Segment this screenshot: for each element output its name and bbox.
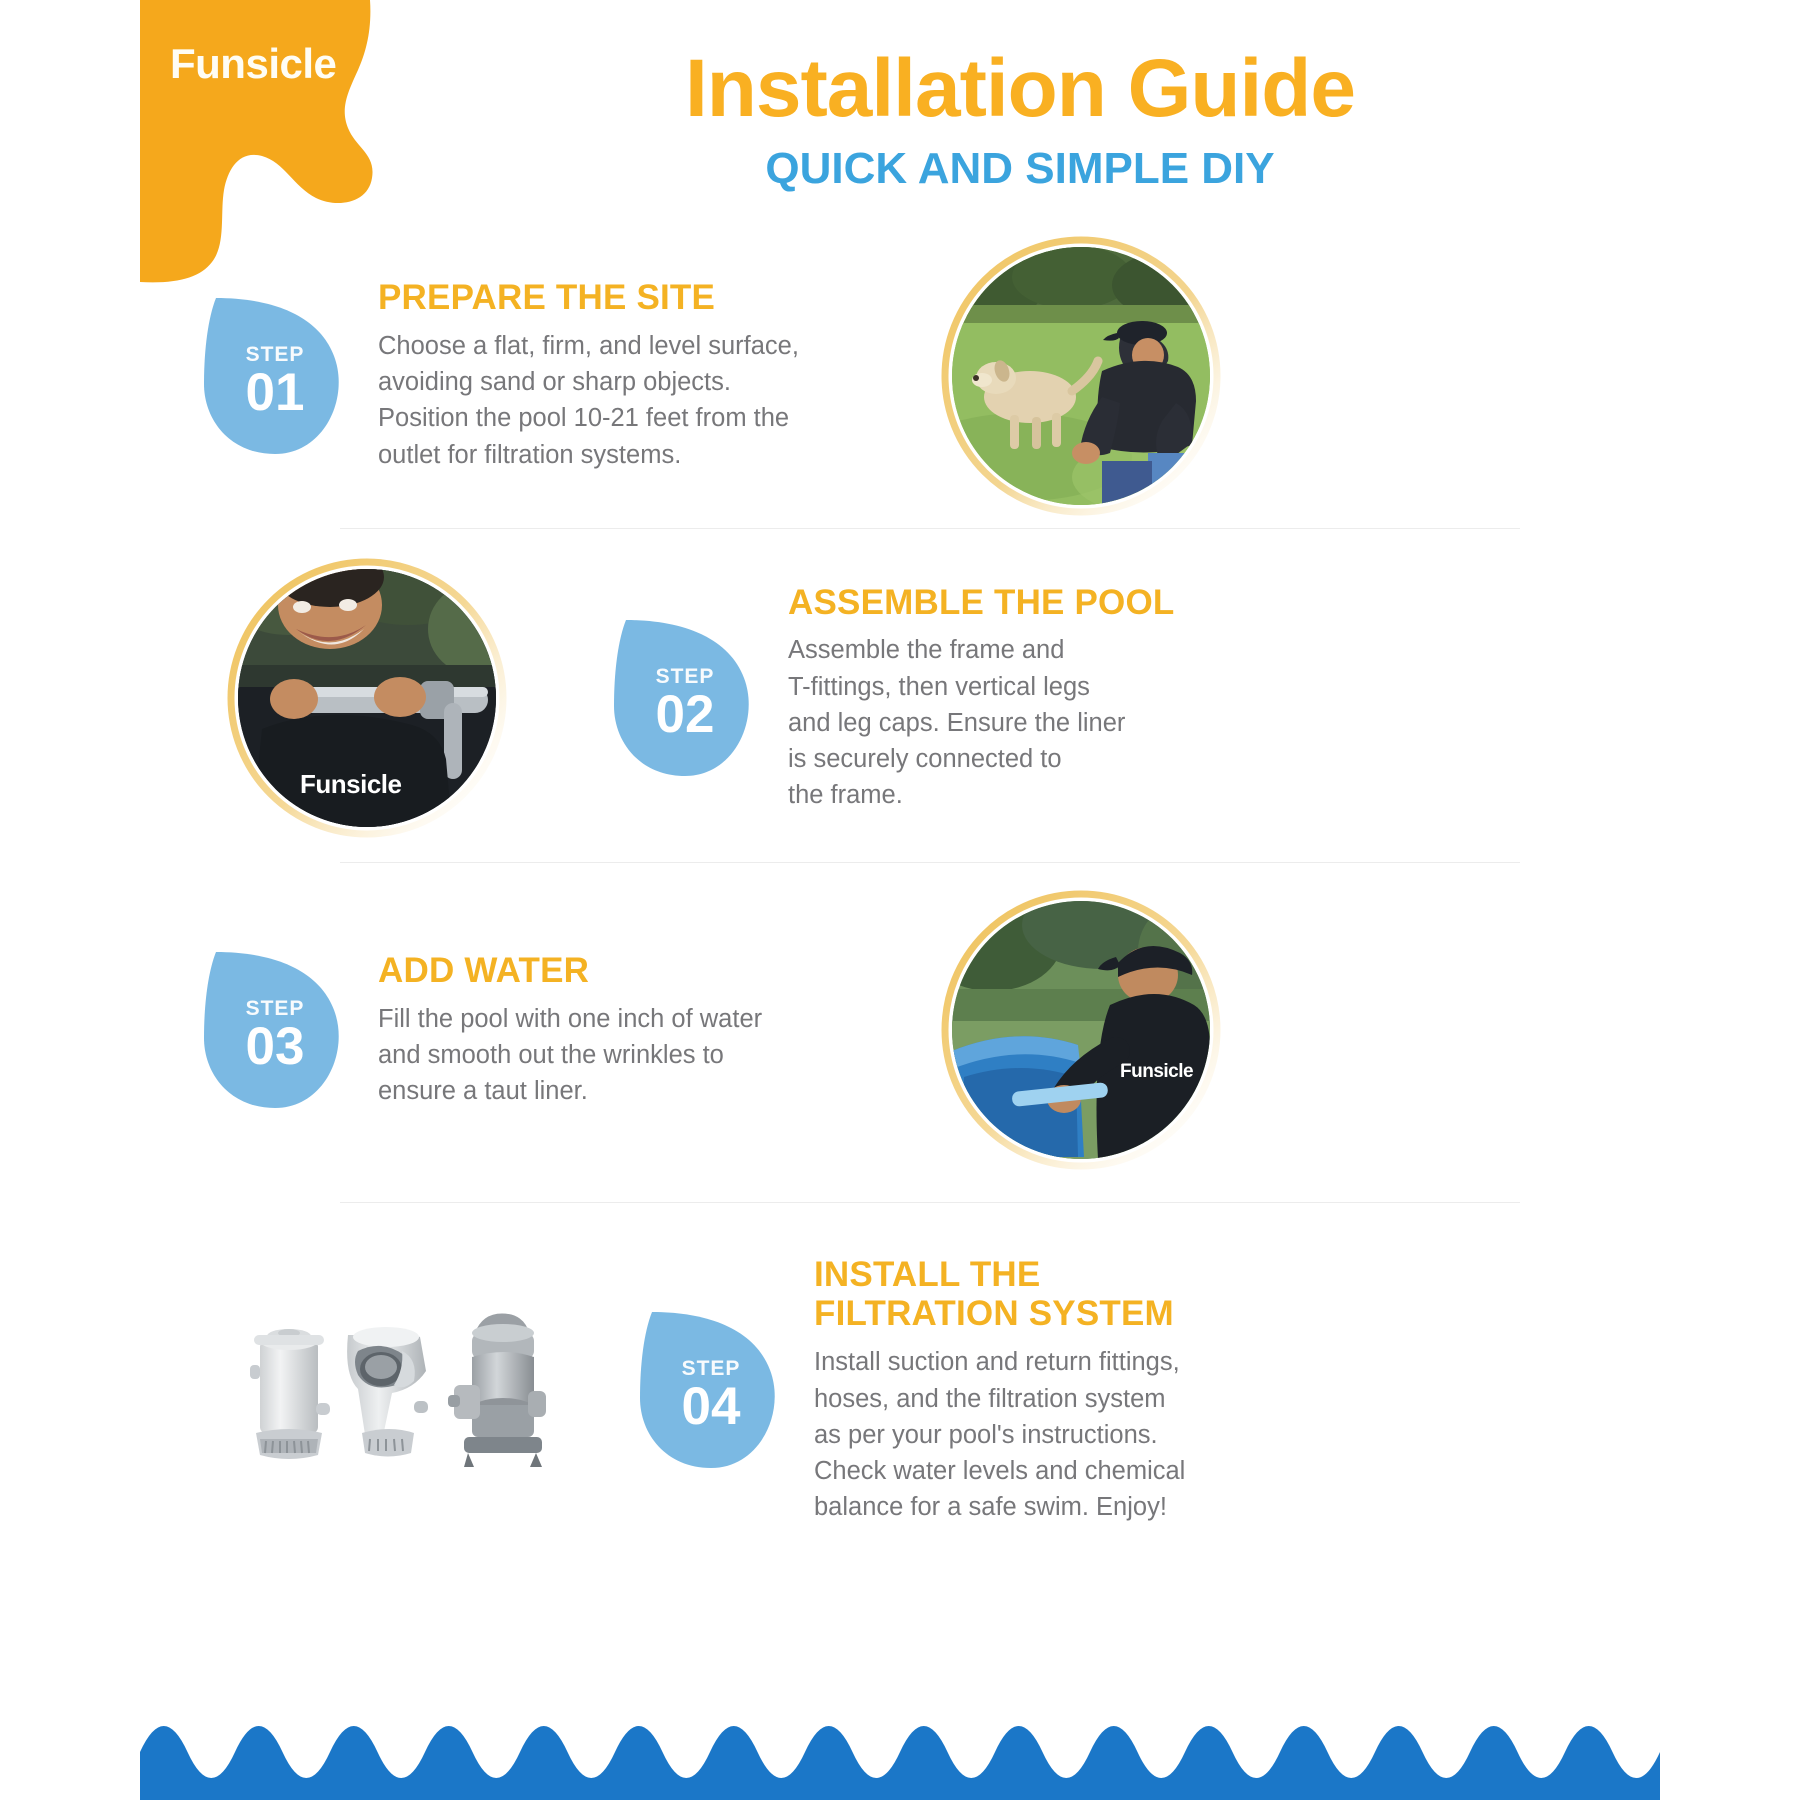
step-photo-03: Funsicle: [938, 887, 1224, 1173]
step-row-02: Funsicle STEP 02 ASSEMBLE THE POOL Assem…: [200, 548, 1600, 848]
step-text-03: ADD WATER Fill the pool with one inch of…: [350, 951, 898, 1110]
header: Installation Guide QUICK AND SIMPLE DIY: [440, 48, 1600, 194]
step-photo-01: [938, 233, 1224, 519]
step-text-04: INSTALL THE FILTRATION SYSTEM Install su…: [786, 1255, 1254, 1526]
step-heading-04: INSTALL THE FILTRATION SYSTEM: [814, 1255, 1254, 1335]
section-divider: [340, 1202, 1520, 1203]
step-badge-04: STEP 04: [636, 1306, 786, 1474]
page-subtitle: QUICK AND SIMPLE DIY: [440, 144, 1600, 194]
installation-guide-page: Funsicle Installation Guide QUICK AND SI…: [0, 0, 1800, 1800]
step-badge-03: STEP 03: [200, 946, 350, 1114]
step-text-01: PREPARE THE SITE Choose a flat, firm, an…: [350, 278, 898, 473]
section-divider: [340, 528, 1520, 529]
photo-man-filling-blue-pool: Funsicle: [952, 901, 1210, 1159]
step-row-03: STEP 03 ADD WATER Fill the pool with one…: [200, 880, 1600, 1180]
photo-man-dog-lawn: [952, 247, 1210, 505]
footer-wave: [140, 1690, 1660, 1800]
svg-text:Funsicle: Funsicle: [300, 769, 402, 799]
equipment-filter-pump-trio: [236, 1295, 566, 1485]
step-body-01: Choose a flat, firm, and level surface, …: [378, 328, 898, 473]
step-badge-02: STEP 02: [610, 614, 760, 782]
step-heading-02: ASSEMBLE THE POOL: [788, 583, 1208, 623]
step-badge-01: STEP 01: [200, 292, 350, 460]
step-photo-02: Funsicle: [224, 555, 510, 841]
brand-wordmark: Funsicle: [170, 40, 336, 88]
step-body-02: Assemble the frame and T-fittings, then …: [788, 632, 1208, 813]
section-divider: [340, 862, 1520, 863]
step-heading-01: PREPARE THE SITE: [378, 278, 898, 318]
page-title: Installation Guide: [440, 48, 1600, 130]
svg-text:Funsicle: Funsicle: [1120, 1061, 1193, 1082]
page-sheet: Funsicle Installation Guide QUICK AND SI…: [140, 0, 1660, 1800]
step-body-04: Install suction and return fittings, hos…: [814, 1344, 1254, 1525]
step-body-03: Fill the pool with one inch of water and…: [378, 1001, 898, 1110]
photo-man-holding-frame-pole: Funsicle: [238, 569, 496, 827]
step-text-02: ASSEMBLE THE POOL Assemble the frame and…: [760, 583, 1208, 814]
step-row-04: STEP 04 INSTALL THE FILTRATION SYSTEM In…: [200, 1230, 1600, 1550]
step-heading-03: ADD WATER: [378, 951, 898, 991]
